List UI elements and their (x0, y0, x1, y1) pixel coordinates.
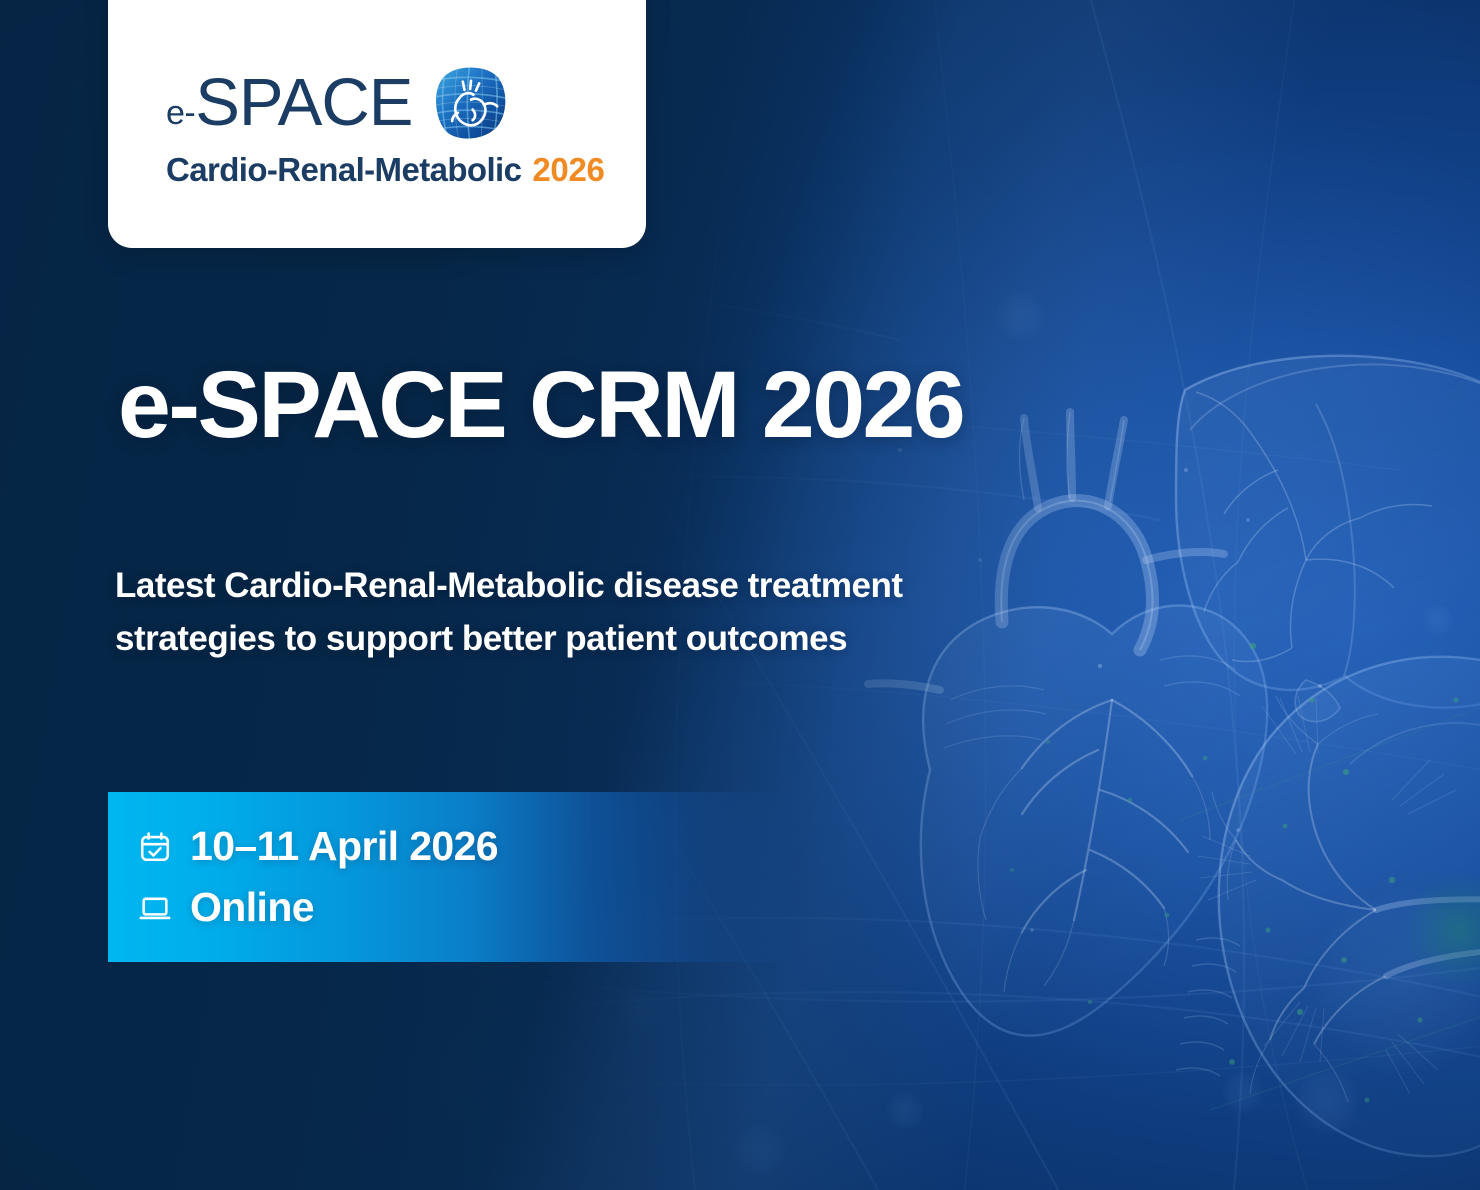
logo-prefix: e- (166, 96, 195, 130)
event-info-bar: 10–11 April 2026 Online (108, 792, 798, 962)
laptop-icon (138, 891, 172, 925)
logo-card: e- SPACE (108, 0, 646, 248)
promo-banner: e- SPACE (0, 0, 1480, 1190)
event-date-line: 10–11 April 2026 (138, 826, 798, 867)
logo-wordmark: e- SPACE (166, 69, 412, 136)
logo-subtitle-row: Cardio-Renal-Metabolic 2026 (166, 151, 605, 189)
page-subtitle: Latest Cardio-Renal-Metabolic disease tr… (115, 560, 905, 665)
event-location: Online (190, 887, 314, 928)
logo-top-row: e- SPACE (166, 62, 512, 144)
globe-heart-icon (430, 62, 512, 144)
calendar-check-icon (138, 830, 172, 864)
event-date: 10–11 April 2026 (190, 826, 498, 867)
page-title: e-SPACE CRM 2026 (118, 358, 963, 453)
event-location-line: Online (138, 887, 798, 928)
logo-name: SPACE (195, 69, 412, 136)
logo-year: 2026 (532, 151, 604, 189)
logo-subtitle: Cardio-Renal-Metabolic (166, 151, 521, 189)
